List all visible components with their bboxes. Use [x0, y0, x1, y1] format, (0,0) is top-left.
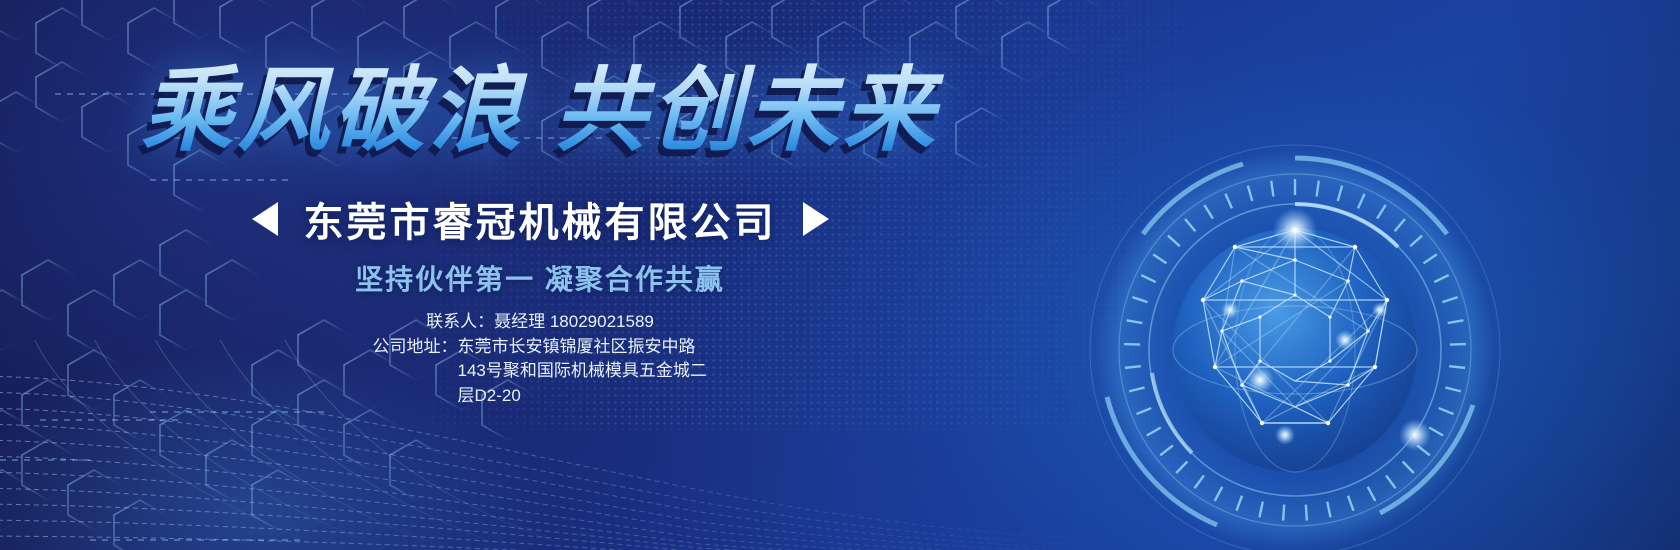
slogan-text: 坚持伙伴第一 凝聚合作共赢	[0, 258, 1080, 298]
contact-info-block: 联系人： 聂经理 18029021589 公司地址： 东莞市长安镇锦厦社区振安中…	[0, 310, 1080, 409]
banner-text-content: 乘风破浪 共创未来 东莞市睿冠机械有限公司 坚持伙伴第一 凝聚合作共赢 联系人：…	[0, 0, 1080, 550]
company-name: 东莞市睿冠机械有限公司	[304, 190, 777, 248]
company-address-label: 公司地址：	[373, 335, 458, 360]
contact-person-value: 聂经理 18029021589	[494, 310, 654, 335]
promotional-banner: 乘风破浪 共创未来 东莞市睿冠机械有限公司 坚持伙伴第一 凝聚合作共赢 联系人：…	[0, 0, 1680, 550]
company-name-row: 东莞市睿冠机械有限公司	[0, 190, 1080, 248]
right-arrow-icon	[803, 202, 829, 236]
contact-person-label: 联系人：	[426, 310, 494, 335]
hud-globe-graphic	[1080, 135, 1510, 550]
contact-person-row: 联系人： 聂经理 18029021589	[426, 310, 654, 335]
left-arrow-icon	[252, 202, 278, 236]
company-address-row: 公司地址： 东莞市长安镇锦厦社区振安中路143号聚和国际机械模具五金城二层D2-…	[373, 335, 708, 409]
company-address-value: 东莞市长安镇锦厦社区振安中路143号聚和国际机械模具五金城二层D2-20	[458, 335, 708, 409]
page-title: 乘风破浪 共创未来	[0, 62, 1080, 161]
